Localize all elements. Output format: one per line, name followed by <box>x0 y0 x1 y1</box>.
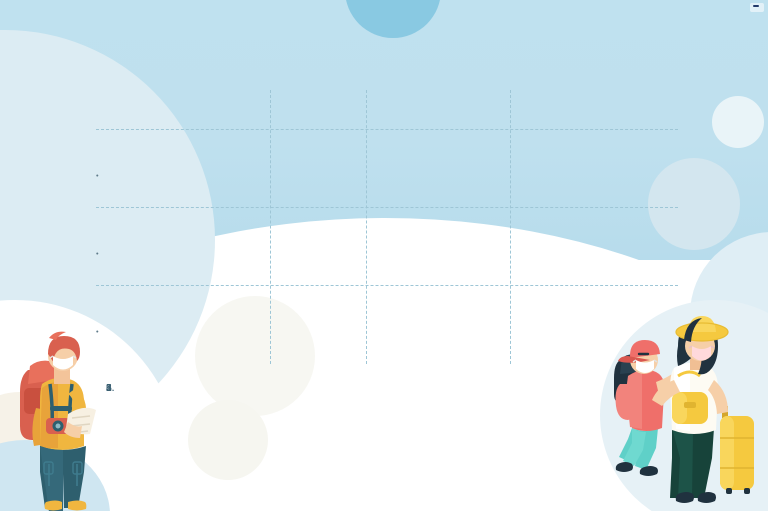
cell-required-testing <box>510 208 678 286</box>
bullet-icon: • <box>96 171 99 181</box>
table-row: • <box>96 208 678 286</box>
logo-tat-text <box>753 5 759 7</box>
header-cell-mode <box>270 90 366 130</box>
table-row: • <box>96 286 678 364</box>
cell-quarantine-days <box>366 286 510 364</box>
cell-vaccination-status: • <box>96 130 270 208</box>
decor-circle-docs <box>188 400 268 480</box>
cell-vaccination-status: • <box>96 286 270 364</box>
bullet-icon: • <box>96 249 99 259</box>
cell-required-testing <box>510 130 678 208</box>
quarantine-table: • • <box>96 90 678 364</box>
illustration-family-travellers <box>614 312 768 511</box>
illustration-backpacker <box>6 322 121 511</box>
cell-quarantine-days <box>366 208 510 286</box>
header-cell-testing <box>510 90 678 130</box>
cell-mode-of-transport <box>270 130 366 208</box>
cell-quarantine-days <box>366 130 510 208</box>
cell-mode-of-transport <box>270 286 366 364</box>
tat-news-logo[interactable] <box>750 3 764 12</box>
infographic-poster: • • <box>0 0 768 511</box>
header-cell-days <box>366 90 510 130</box>
header-cell-vaccination <box>96 90 270 130</box>
table-header-row <box>96 90 678 130</box>
table-row: • <box>96 130 678 208</box>
required-documents-section <box>100 378 520 382</box>
cell-mode-of-transport <box>270 208 366 286</box>
decor-circle-right-4 <box>712 96 764 148</box>
cell-vaccination-status: • <box>96 208 270 286</box>
